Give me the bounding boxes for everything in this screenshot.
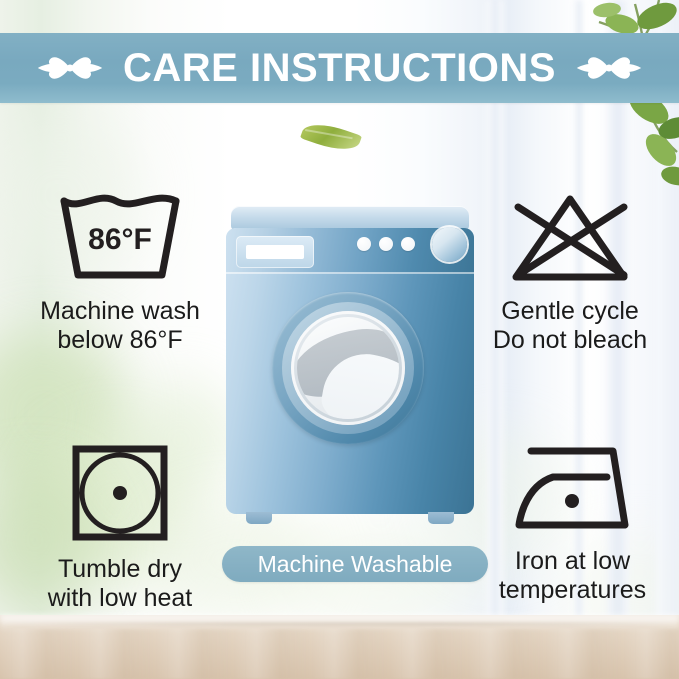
care-item-caption: Gentle cycle Do not bleach xyxy=(470,297,670,355)
care-item-caption: Iron at low temperatures xyxy=(470,547,675,605)
wash-temperature-label: 86°F xyxy=(88,223,152,256)
care-item-machine-wash: 86°F Machine wash below 86°F xyxy=(14,193,226,355)
machine-display-screen xyxy=(246,245,304,259)
tumble-dry-low-icon xyxy=(70,443,170,543)
care-item-caption: Machine wash below 86°F xyxy=(14,297,226,355)
triangle-crossed-out-icon xyxy=(506,193,634,285)
care-item-gentle-cycle-no-bleach: Gentle cycle Do not bleach xyxy=(470,193,670,355)
machine-washable-badge: Machine Washable xyxy=(222,546,488,582)
machine-door-inner-ring xyxy=(291,311,405,425)
page-title: CARE INSTRUCTIONS xyxy=(123,46,556,91)
badge-label: Machine Washable xyxy=(258,551,453,578)
machine-program-dial[interactable] xyxy=(432,227,467,262)
machine-foot xyxy=(246,512,272,524)
machine-button[interactable] xyxy=(401,237,415,251)
fleur-de-lis-ornament-right-icon xyxy=(574,42,644,94)
machine-button[interactable] xyxy=(357,237,371,251)
care-item-caption: Tumble dry with low heat xyxy=(14,555,226,613)
fleur-de-lis-ornament-left-icon xyxy=(35,42,105,94)
washing-machine-illustration xyxy=(226,206,474,526)
wooden-table-surface xyxy=(0,615,679,679)
machine-display xyxy=(236,236,314,268)
iron-one-dot-icon xyxy=(509,443,637,535)
care-item-iron-low: Iron at low temperatures xyxy=(470,443,675,605)
machine-button[interactable] xyxy=(379,237,393,251)
machine-door-ring xyxy=(282,302,414,434)
machine-door-glass xyxy=(297,317,399,419)
care-item-tumble-dry: Tumble dry with low heat xyxy=(14,443,226,613)
wash-basin-icon: 86°F xyxy=(54,193,186,285)
table-wood-grain xyxy=(0,629,679,679)
machine-top-lid xyxy=(231,206,469,230)
care-instructions-banner: CARE INSTRUCTIONS xyxy=(0,33,679,103)
machine-door[interactable] xyxy=(272,292,424,444)
machine-foot xyxy=(428,512,454,524)
